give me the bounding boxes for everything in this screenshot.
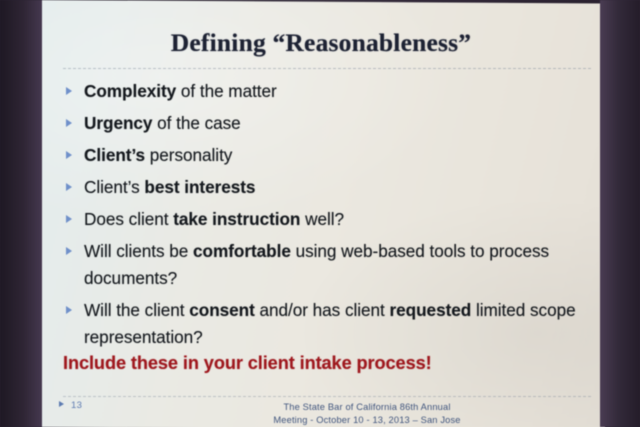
bullet-item-consent: Will the client consent and/or has clien… (63, 297, 593, 351)
triangle-bullet-icon (66, 119, 72, 127)
triangle-bullet-icon (59, 401, 64, 407)
bullet-lead-urgency: Urgency (84, 113, 152, 133)
title-divider-rule (63, 68, 591, 69)
bullet-item-client-personality: Client’s personality (63, 142, 593, 169)
footer-divider-rule (63, 396, 591, 397)
bullet-mid-consent: and/or has client (255, 300, 390, 320)
footer-line-1: The State Bar of California 86th Annual (187, 401, 547, 414)
bullet-emph-comfortable: comfortable (193, 241, 291, 261)
bullet-item-complexity: Complexity of the matter (63, 78, 593, 105)
slide-number-block: 13 (59, 400, 82, 411)
triangle-bullet-icon (66, 247, 72, 255)
triangle-bullet-icon (66, 87, 72, 95)
right-dark-border (600, 0, 640, 427)
bullet-lead-clients: Client’s (84, 177, 144, 197)
bullet-rest-personality: personality (145, 145, 232, 165)
footer-organization: The State Bar of California 86th Annual … (187, 401, 547, 426)
slide-number: 13 (71, 400, 82, 411)
bullet-lead-will-clients: Will clients be (84, 241, 193, 261)
bullet-emph-take-instruction: take instruction (173, 209, 300, 229)
bullet-lead-will-the-client: Will the client (84, 300, 189, 320)
slide-title: Defining “Reasonableness” (37, 28, 605, 58)
bullet-rest-urgency: of the case (152, 113, 240, 133)
bullet-lead-does-client: Does client (84, 209, 173, 229)
projected-slide-photo: Defining “Reasonableness” Complexity of … (0, 0, 640, 427)
bullet-list: Complexity of the matter Urgency of the … (63, 78, 593, 356)
closing-call-to-action: Include these in your client intake proc… (63, 353, 593, 374)
bullet-rest-complexity: of the matter (176, 81, 277, 101)
photo-blur-layer: Defining “Reasonableness” Complexity of … (0, 0, 640, 427)
triangle-bullet-icon (66, 215, 72, 223)
triangle-bullet-icon (66, 151, 72, 159)
footer-line-2: Meeting - October 10 - 13, 2013 – San Jo… (187, 414, 547, 427)
bullet-item-best-interests: Client’s best interests (63, 174, 593, 201)
left-dark-border (0, 0, 42, 427)
slide-content: Defining “Reasonableness” Complexity of … (37, 0, 605, 427)
bullet-rest-take-instruction: well? (300, 209, 344, 229)
bullet-item-comfortable: Will clients be comfortable using web-ba… (63, 238, 593, 292)
triangle-bullet-icon (66, 183, 72, 191)
bullet-emph-best-interests: best interests (144, 177, 255, 197)
bullet-lead-client: Client’s (84, 145, 145, 165)
triangle-bullet-icon (66, 306, 72, 314)
bullet-emph-requested: requested (390, 300, 472, 320)
bullet-item-take-instruction: Does client take instruction well? (63, 206, 593, 233)
bullet-item-urgency: Urgency of the case (63, 110, 593, 137)
bullet-emph-consent: consent (189, 300, 255, 320)
bullet-lead-complexity: Complexity (84, 81, 176, 101)
